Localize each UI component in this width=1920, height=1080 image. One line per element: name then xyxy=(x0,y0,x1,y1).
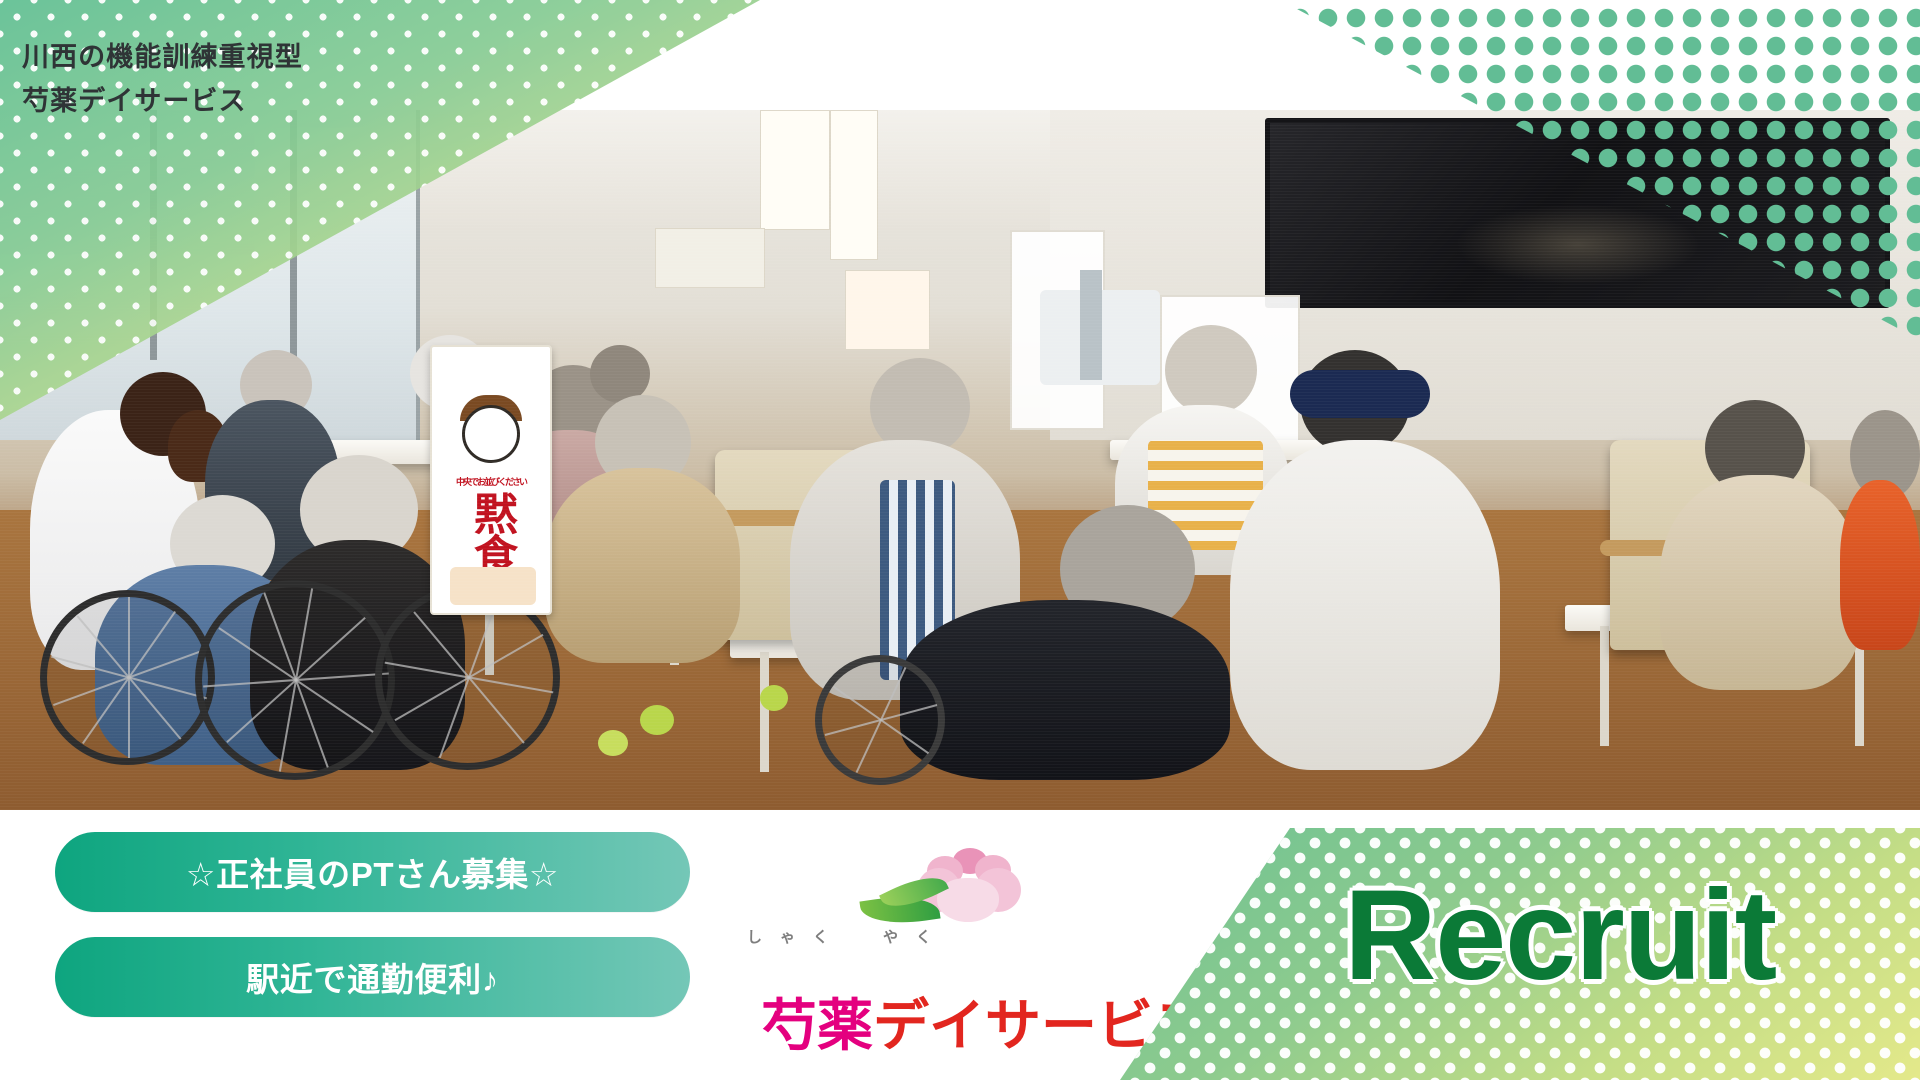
wheelchair-wheel xyxy=(195,580,395,780)
person-head xyxy=(1165,325,1257,415)
hero-heading-line-2: 芍薬デイサービス xyxy=(22,80,303,124)
standee-illustration-face xyxy=(462,405,520,463)
floor-marker xyxy=(598,730,628,756)
logo-kanji: 芍薬 xyxy=(761,994,873,1057)
person-body xyxy=(900,600,1230,780)
table-leg xyxy=(760,652,769,772)
wall-poster xyxy=(845,270,930,350)
wheelchair-wheel xyxy=(40,590,215,765)
person-body xyxy=(1660,475,1860,690)
wall-poster xyxy=(830,110,878,260)
staff-person xyxy=(1230,440,1500,770)
standee-big-caption: 黙食 xyxy=(470,491,512,575)
person-body xyxy=(545,468,740,663)
bottom-band: ☆正社員のPTさん募集☆ 駅近で通勤便利♪ しゃく やく xyxy=(0,810,1920,1080)
badge-fulltime-pt-recruit: ☆正社員のPTさん募集☆ xyxy=(55,832,690,912)
floor-marker xyxy=(760,685,788,711)
hero-overlay-heading: 川西の機能訓練重視型 芍薬デイサービス xyxy=(22,36,303,123)
standee-small-caption: 中央でお並びください xyxy=(456,475,526,488)
table-leg xyxy=(1600,626,1609,746)
standee-base xyxy=(450,567,536,605)
wheelchair-wheel xyxy=(815,655,945,785)
logo-furigana-2: やく xyxy=(883,926,1113,947)
equipment-pole xyxy=(1080,270,1102,380)
furigana-shaku: しゃく xyxy=(747,929,846,946)
standee-sign: 中央でお並びください 黙食 xyxy=(430,345,552,615)
wall-poster xyxy=(760,110,830,230)
person-body xyxy=(1840,480,1920,650)
wall-poster xyxy=(655,228,765,288)
recruit-banner: 中央でお並びください 黙食 川西の機能訓練重視型 芍薬デイサービス ☆正社員のP… xyxy=(0,0,1920,1080)
floor-marker xyxy=(640,705,674,735)
hero-heading-line-1: 川西の機能訓練重視型 xyxy=(22,36,303,80)
badge-near-station: 駅近で通勤便利♪ xyxy=(55,937,690,1017)
hair-ribbon xyxy=(1290,370,1430,418)
tv-reflection xyxy=(1455,204,1701,285)
furigana-yaku: やく xyxy=(883,929,949,946)
peony-flower-icon xyxy=(913,848,1033,936)
recruit-heading: Recruit xyxy=(1120,862,1920,1009)
recruit-panel: Recruit xyxy=(1120,828,1920,1080)
